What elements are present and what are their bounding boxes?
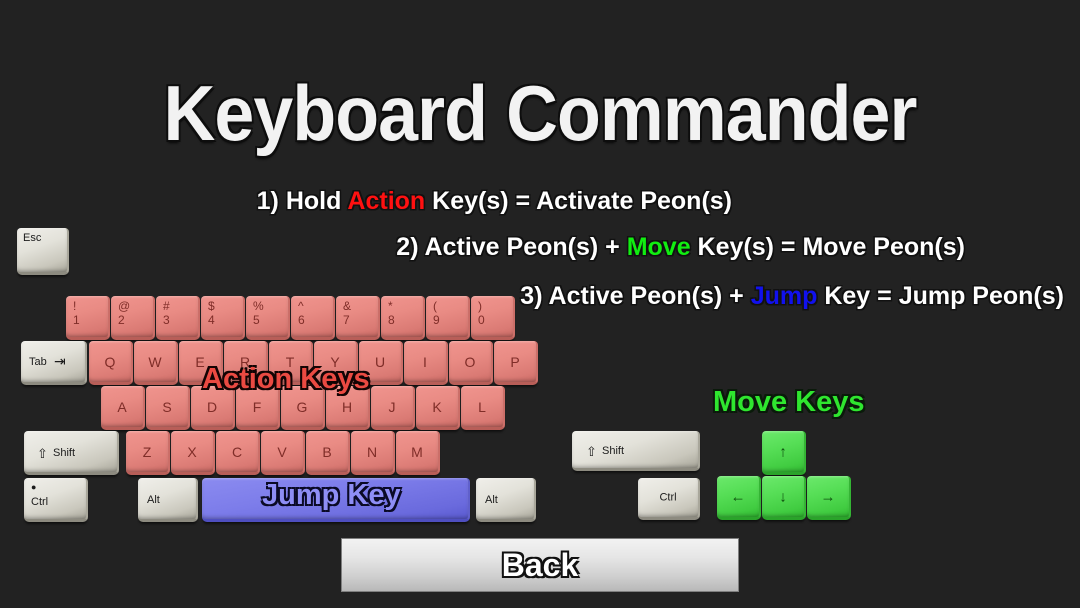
- key-s[interactable]: S: [146, 386, 190, 430]
- key-p-label: P: [494, 355, 536, 369]
- arrow-up-icon: ↑: [762, 444, 804, 459]
- key-9-shift-label: (: [433, 300, 437, 312]
- key-tab-label: Tab: [29, 357, 47, 368]
- instruction-1-keyword: Action: [347, 187, 425, 215]
- key-p[interactable]: P: [494, 341, 538, 385]
- ctrl-dot-icon: ●: [31, 483, 36, 492]
- key-3-shift-label: #: [163, 300, 170, 312]
- key-1-label: 1: [73, 314, 80, 326]
- key-o[interactable]: O: [449, 341, 493, 385]
- key-l-label: L: [461, 400, 503, 414]
- key-3[interactable]: # 3: [156, 296, 200, 340]
- page-title: Keyboard Commander: [43, 74, 1037, 152]
- key-0[interactable]: ) 0: [471, 296, 515, 340]
- key-7-shift-label: &: [343, 300, 351, 312]
- key-7[interactable]: & 7: [336, 296, 380, 340]
- keyboard-commander-screen: Keyboard Commander 1) Hold Action Key(s)…: [0, 0, 1080, 608]
- key-z-label: Z: [126, 445, 168, 459]
- key-4-shift-label: $: [208, 300, 215, 312]
- key-2-label: 2: [118, 314, 125, 326]
- key-d-label: D: [191, 400, 233, 414]
- key-g-label: G: [281, 400, 323, 414]
- key-0-shift-label: ): [478, 300, 482, 312]
- key-v[interactable]: V: [261, 431, 305, 475]
- key-j[interactable]: J: [371, 386, 415, 430]
- key-8-shift-label: *: [388, 300, 393, 312]
- key-k-label: K: [416, 400, 458, 414]
- key-ctrl-right[interactable]: Ctrl: [638, 478, 700, 520]
- jump-key-caption: Jump Key: [262, 481, 401, 510]
- key-shift-right-label: Shift: [602, 446, 624, 457]
- key-arrow-down[interactable]: ↓: [762, 476, 806, 520]
- instruction-2-suffix: Key(s) = Move Peon(s): [691, 233, 965, 261]
- key-m-label: M: [396, 445, 438, 459]
- key-4-label: 4: [208, 314, 215, 326]
- key-b-label: B: [306, 445, 348, 459]
- key-z[interactable]: Z: [126, 431, 170, 475]
- key-h-label: H: [326, 400, 368, 414]
- key-x[interactable]: X: [171, 431, 215, 475]
- key-n-label: N: [351, 445, 393, 459]
- key-arrow-left[interactable]: ←: [717, 476, 761, 520]
- instruction-3-keyword: Jump: [751, 282, 818, 310]
- key-5-shift-label: %: [253, 300, 264, 312]
- key-8[interactable]: * 8: [381, 296, 425, 340]
- key-ctrl-left[interactable]: ● Ctrl: [24, 478, 88, 522]
- key-i-label: I: [404, 355, 446, 369]
- shift-arrow-icon: ⇧: [37, 447, 48, 460]
- key-7-label: 7: [343, 314, 350, 326]
- key-i[interactable]: I: [404, 341, 448, 385]
- key-4[interactable]: $ 4: [201, 296, 245, 340]
- instruction-line-2: 2) Active Peon(s) + Move Key(s) = Move P…: [396, 233, 965, 262]
- action-keys-caption: Action Keys: [202, 365, 370, 394]
- key-alt-right-label: Alt: [485, 495, 498, 506]
- key-b[interactable]: B: [306, 431, 350, 475]
- key-c[interactable]: C: [216, 431, 260, 475]
- key-2[interactable]: @ 2: [111, 296, 155, 340]
- key-o-label: O: [449, 355, 491, 369]
- tab-arrow-icon: ⇥: [54, 354, 66, 368]
- key-6-shift-label: ^: [298, 300, 304, 312]
- key-0-label: 0: [478, 314, 485, 326]
- shift-right-arrow-icon: ⇧: [586, 445, 597, 458]
- arrow-left-icon: ←: [717, 489, 759, 504]
- key-shift-left[interactable]: ⇧ Shift: [24, 431, 119, 475]
- key-arrow-right[interactable]: →: [807, 476, 851, 520]
- key-tab[interactable]: Tab ⇥: [21, 341, 87, 385]
- arrow-right-icon: →: [807, 489, 849, 504]
- key-n[interactable]: N: [351, 431, 395, 475]
- key-alt-right[interactable]: Alt: [476, 478, 536, 522]
- key-escape-label: Esc: [23, 233, 41, 244]
- back-button-label: Back: [502, 549, 579, 581]
- instruction-2-keyword: Move: [627, 233, 691, 261]
- key-6[interactable]: ^ 6: [291, 296, 335, 340]
- key-1[interactable]: ! 1: [66, 296, 110, 340]
- instruction-line-3: 3) Active Peon(s) + Jump Key = Jump Peon…: [520, 282, 1064, 311]
- key-1-shift-label: !: [73, 300, 76, 312]
- key-ctrl-left-label: Ctrl: [31, 497, 48, 508]
- key-q[interactable]: Q: [89, 341, 133, 385]
- instruction-2-prefix: 2) Active Peon(s) +: [396, 233, 626, 261]
- key-shift-left-label: Shift: [53, 448, 75, 459]
- key-2-shift-label: @: [118, 300, 130, 312]
- back-button[interactable]: Back: [341, 538, 739, 592]
- move-keys-caption: Move Keys: [713, 388, 865, 417]
- key-9[interactable]: ( 9: [426, 296, 470, 340]
- key-w[interactable]: W: [134, 341, 178, 385]
- key-5-label: 5: [253, 314, 260, 326]
- instruction-3-suffix: Key = Jump Peon(s): [817, 282, 1064, 310]
- instruction-3-prefix: 3) Active Peon(s) +: [520, 282, 750, 310]
- key-f-label: F: [236, 400, 278, 414]
- key-j-label: J: [371, 400, 413, 414]
- key-w-label: W: [134, 355, 176, 369]
- key-c-label: C: [216, 445, 258, 459]
- instruction-1-prefix: 1) Hold: [257, 187, 348, 215]
- key-shift-right[interactable]: ⇧ Shift: [572, 431, 700, 471]
- key-alt-left[interactable]: Alt: [138, 478, 198, 522]
- key-l[interactable]: L: [461, 386, 505, 430]
- key-6-label: 6: [298, 314, 305, 326]
- key-8-label: 8: [388, 314, 395, 326]
- instruction-1-suffix: Key(s) = Activate Peon(s): [425, 187, 732, 215]
- key-arrow-up[interactable]: ↑: [762, 431, 806, 475]
- key-5[interactable]: % 5: [246, 296, 290, 340]
- key-alt-left-label: Alt: [147, 495, 160, 506]
- key-a[interactable]: A: [101, 386, 145, 430]
- instruction-line-1: 1) Hold Action Key(s) = Activate Peon(s): [257, 187, 732, 216]
- key-x-label: X: [171, 445, 213, 459]
- key-3-label: 3: [163, 314, 170, 326]
- key-s-label: S: [146, 400, 188, 414]
- key-v-label: V: [261, 445, 303, 459]
- key-escape[interactable]: Esc: [17, 228, 69, 275]
- key-ctrl-right-label: Ctrl: [638, 492, 698, 503]
- key-k[interactable]: K: [416, 386, 460, 430]
- key-9-label: 9: [433, 314, 440, 326]
- key-a-label: A: [101, 400, 143, 414]
- arrow-down-icon: ↓: [762, 489, 804, 504]
- key-m[interactable]: M: [396, 431, 440, 475]
- key-q-label: Q: [89, 355, 131, 369]
